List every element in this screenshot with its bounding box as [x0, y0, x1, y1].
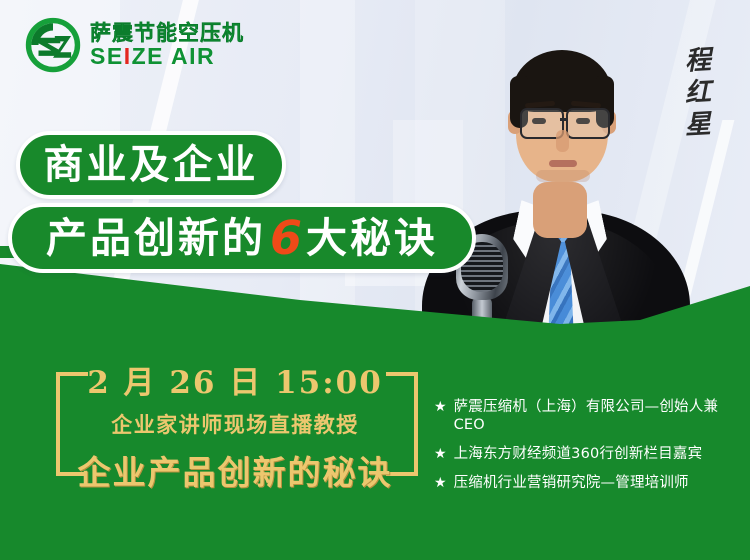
- event-subtitle: 企业家讲师现场直播教授: [60, 409, 410, 439]
- headline-line-2-prefix: 产品创新的: [46, 218, 266, 259]
- brand-name-en: SEIZE AIR: [90, 45, 244, 68]
- star-icon: ★: [434, 398, 447, 416]
- neck: [533, 182, 587, 238]
- event-info: 2 月 26 日 15:00 企业家讲师现场直播教授 企业产品创新的秘诀: [60, 366, 410, 494]
- event-datetime: 2 月 26 日 15:00: [60, 366, 410, 400]
- brand-logo: 萨震节能空压机 SEIZE AIR: [24, 16, 244, 74]
- star-icon: ★: [434, 474, 447, 492]
- credential-text: 压缩机行业营销研究院—管理培训师: [454, 474, 689, 492]
- mouth: [549, 160, 577, 167]
- name-char-1: 程: [684, 47, 711, 74]
- credentials-list: ★ 萨震压缩机（上海）有限公司—创始人兼CEO ★ 上海东方财经频道360行创新…: [434, 398, 734, 504]
- brand-wordmark: 萨震节能空压机 SEIZE AIR: [90, 22, 244, 68]
- brand-en-part2: ZE AIR: [132, 43, 216, 69]
- credential-text: 上海东方财经频道360行创新栏目嘉宾: [454, 445, 703, 463]
- headline-line-1: 商业及企业: [44, 145, 259, 185]
- headline-number: 6: [266, 215, 306, 261]
- headline-pill-2: 产品创新的6大秘诀: [8, 203, 476, 273]
- headline-line-2-suffix: 大秘诀: [306, 218, 438, 259]
- brand-name-cn: 萨震节能空压机: [90, 22, 244, 44]
- list-item: ★ 压缩机行业营销研究院—管理培训师: [434, 474, 734, 492]
- list-item: ★ 上海东方财经频道360行创新栏目嘉宾: [434, 445, 734, 463]
- name-char-3: 星: [684, 111, 711, 138]
- event-topic: 企业产品创新的秘诀: [60, 446, 410, 494]
- brand-en-accent: I: [124, 43, 132, 69]
- promo-poster: 萨震节能空压机 SEIZE AIR 程 红 星 商业及企业 产品创新的6大秘诀 …: [0, 0, 750, 560]
- headline-pill-1: 商业及企业: [16, 131, 286, 199]
- name-char-2: 红: [684, 79, 711, 106]
- sz-circle-monogram-icon: [24, 16, 82, 74]
- list-item: ★ 萨震压缩机（上海）有限公司—创始人兼CEO: [434, 398, 734, 434]
- star-icon: ★: [434, 445, 447, 463]
- speaker-name-vertical: 程 红 星: [676, 48, 720, 138]
- brand-en-part1: SE: [90, 43, 124, 69]
- credential-text: 萨震压缩机（上海）有限公司—创始人兼CEO: [454, 398, 734, 434]
- eyeglasses-bridge: [560, 118, 568, 121]
- eyeglasses-lens-right: [566, 108, 610, 139]
- chin-shadow: [536, 170, 590, 182]
- nose: [556, 130, 569, 152]
